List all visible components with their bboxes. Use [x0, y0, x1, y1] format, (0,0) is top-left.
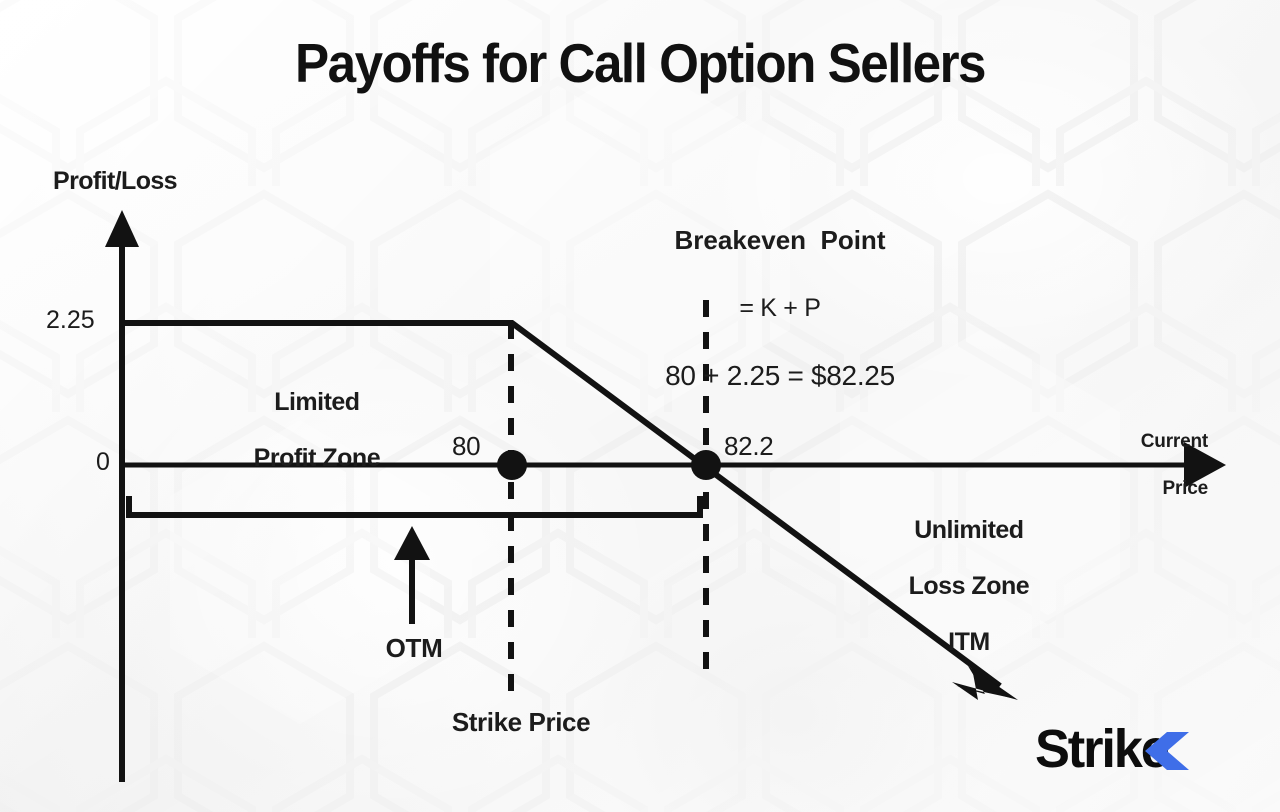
brand-logo: Strike	[1035, 718, 1225, 784]
limited-profit-zone-label: Limited Profit Zone	[208, 360, 400, 500]
chevron-left-icon	[1143, 732, 1189, 770]
unlimited-loss-zone-line-2: Loss Zone	[909, 572, 1030, 600]
y-axis-label: Profit/Loss	[53, 167, 177, 195]
breakeven-title: Breakeven Point	[570, 226, 990, 255]
limited-profit-zone-line-2: Profit Zone	[254, 444, 380, 472]
limited-profit-zone-line-1: Limited	[274, 388, 359, 416]
x-axis-label: Current Price	[1078, 406, 1208, 525]
unlimited-loss-zone-label: Unlimited Loss Zone ITM	[858, 488, 1054, 684]
breakeven-point-marker	[691, 450, 721, 480]
diagram-canvas: Payoffs for Call Option Sellers Profit/L…	[0, 0, 1280, 812]
current-price-line-1: Current	[1141, 431, 1208, 452]
breakeven-formula: = K + P	[570, 294, 990, 322]
otm-arrow	[394, 526, 430, 624]
otm-label: OTM	[340, 634, 488, 663]
y-axis	[105, 210, 139, 782]
breakeven-calculation: 80 + 2.25 = $82.25	[570, 360, 990, 391]
current-price-line-2: Price	[1163, 478, 1208, 499]
unlimited-loss-zone-line-3: ITM	[948, 628, 990, 656]
y-tick-label-premium: 2.25	[46, 306, 95, 334]
breakeven-annotation: Breakeven Point = K + P 80 + 2.25 = $82.…	[570, 190, 990, 427]
strike-price-label: Strike Price	[406, 708, 636, 737]
y-tick-label-zero: 0	[96, 448, 110, 476]
x-tick-label-strike: 80	[452, 432, 480, 461]
strike-point-marker	[497, 450, 527, 480]
page-title: Payoffs for Call Option Sellers	[45, 33, 1235, 95]
unlimited-loss-zone-line-1: Unlimited	[914, 516, 1023, 544]
x-tick-label-breakeven: 82.2	[724, 432, 773, 461]
